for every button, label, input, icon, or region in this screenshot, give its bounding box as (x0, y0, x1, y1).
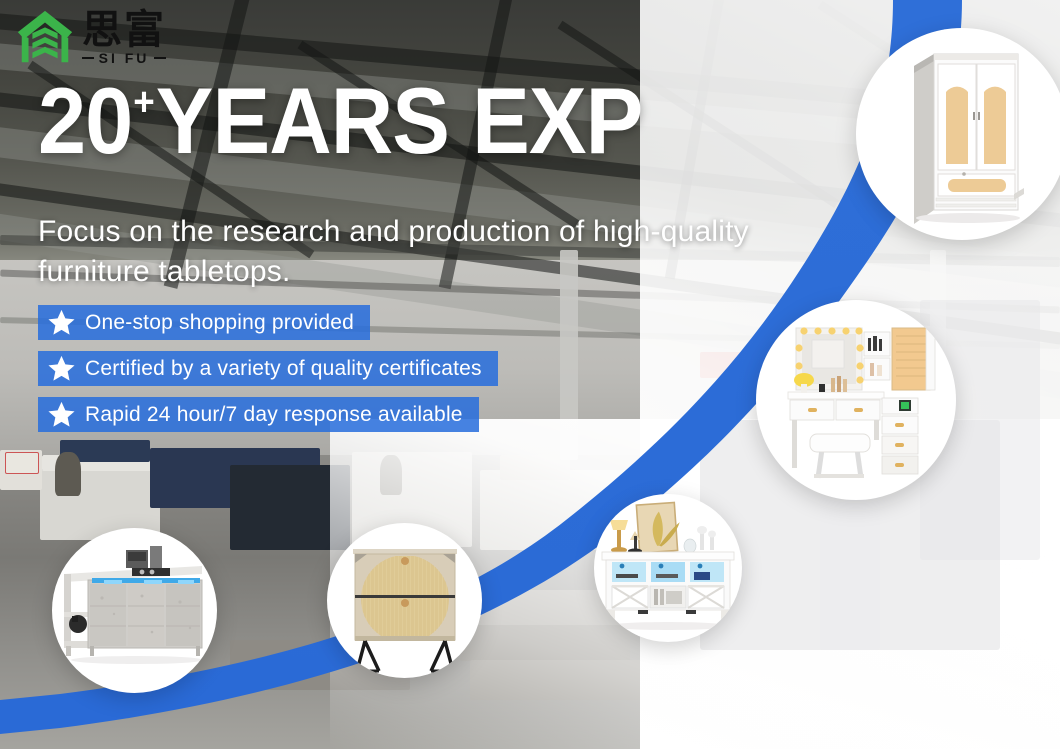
feature-item-2: Certified by a variety of quality certif… (38, 351, 498, 386)
feature-list: One-stop shopping provided Certified by … (38, 305, 498, 432)
feature-label: One-stop shopping provided (85, 312, 354, 333)
lighted-mirror-vanity-set (756, 300, 956, 500)
product-circle-tv-stand (594, 494, 742, 642)
subtitle-text: Focus on the research and production of … (38, 212, 778, 291)
wordmark-rule-left (82, 57, 94, 59)
feature-item-1: One-stop shopping provided (38, 305, 370, 340)
page-title: 20+YEARS EXP (38, 78, 642, 164)
star-icon (47, 308, 76, 337)
headline-number: 20 (38, 78, 132, 164)
green-house-logo-icon (14, 6, 76, 68)
brand-wordmark: 思富 SI FU (82, 10, 166, 65)
wordmark-rule-right (154, 57, 166, 59)
led-farmhouse-tv-stand (594, 494, 742, 642)
star-icon (47, 400, 76, 429)
headline-rest: YEARS EXP (156, 78, 643, 164)
product-circle-sideboard (52, 528, 217, 693)
feature-label: Certified by a variety of quality certif… (85, 358, 482, 379)
rattan-circle-2-drawer-cabinet (327, 523, 482, 678)
feature-label: Rapid 24 hour/7 day response available (85, 404, 463, 425)
led-concrete-sideboard (52, 528, 217, 693)
feature-item-3: Rapid 24 hour/7 day response available (38, 397, 479, 432)
product-circle-rattan-cabinet (327, 523, 482, 678)
brand-chinese-name: 思富 (82, 10, 166, 50)
brand-logo: 思富 SI FU (14, 6, 166, 68)
rattan-arch-door-wardrobe (856, 28, 1060, 240)
product-circle-vanity (756, 300, 956, 500)
brand-latin-name: SI FU (99, 51, 150, 65)
promo-banner: 思富 SI FU 20+YEARS EXP Focus on the resea… (0, 0, 1060, 749)
product-circle-wardrobe (856, 28, 1060, 240)
star-icon (47, 354, 76, 383)
headline-superscript: + (133, 82, 154, 122)
